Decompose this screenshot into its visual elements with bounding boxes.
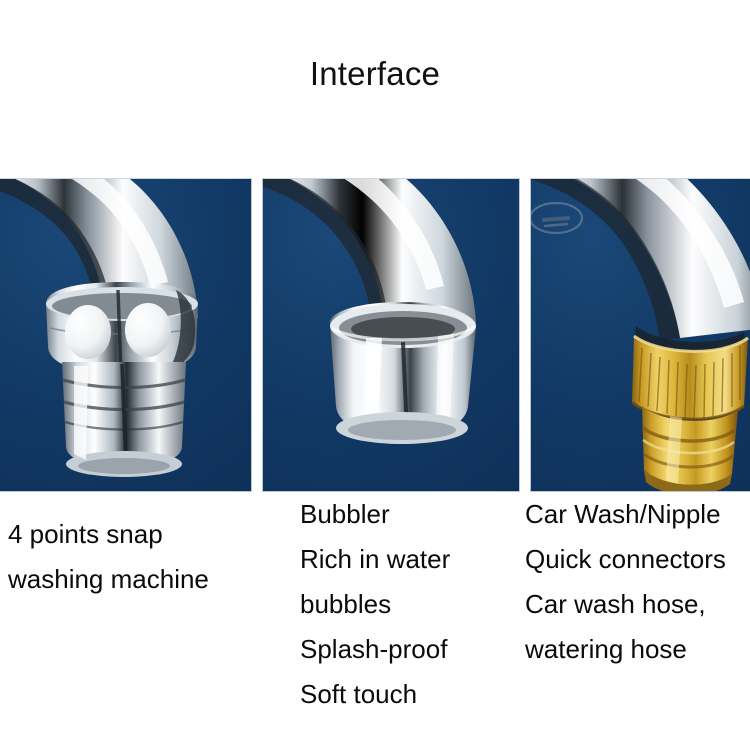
caption-line: Car wash hose,: [525, 582, 726, 627]
infographic-page: Interface: [0, 0, 750, 750]
page-title: Interface: [0, 54, 750, 94]
caption-line: Bubbler: [300, 492, 450, 537]
caption-line: bubbles: [300, 582, 450, 627]
product-panel-car-wash-nipple: [530, 178, 750, 492]
caption-line: watering hose: [525, 627, 726, 672]
product-panel-four-points-snap: [0, 178, 252, 492]
caption-bubbler: Bubbler Rich in water bubbles Splash-pro…: [300, 492, 450, 717]
product-panel-bubbler: [262, 178, 520, 492]
caption-line: Quick connectors: [525, 537, 726, 582]
caption-line: Soft touch: [300, 672, 450, 717]
caption-line: washing machine: [8, 557, 209, 602]
caption-line: 4 points snap: [8, 512, 209, 557]
caption-line: Rich in water: [300, 537, 450, 582]
caption-line: Splash-proof: [300, 627, 450, 672]
faucet-snap-connector-image: [0, 178, 252, 492]
caption-car-wash-nipple: Car Wash/Nipple Quick connectors Car was…: [525, 492, 726, 672]
faucet-bubbler-aerator-image: [262, 178, 520, 492]
caption-four-points-snap: 4 points snap washing machine: [8, 512, 209, 602]
faucet-brass-quick-connector-image: [530, 178, 750, 492]
caption-line: Car Wash/Nipple: [525, 492, 726, 537]
